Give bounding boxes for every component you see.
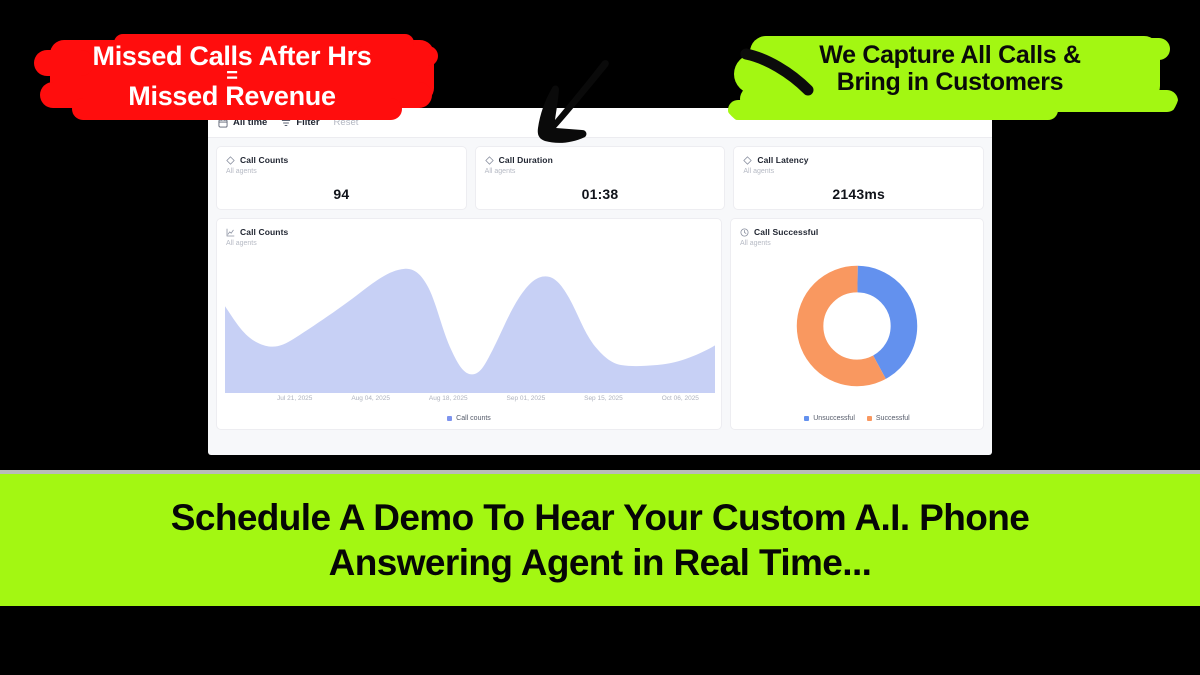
green-banner-line1: We Capture All Calls & <box>720 42 1180 69</box>
kpi-subtitle: All agents <box>743 168 974 175</box>
chart-title: Call Successful <box>754 227 818 237</box>
chart-header: Call Counts <box>226 227 712 237</box>
area-chart-card[interactable]: Call Counts All agents Jul 21, 2025 Aug … <box>216 218 722 430</box>
chart-title: Call Counts <box>240 227 288 237</box>
legend-swatch <box>867 416 872 421</box>
green-banner-line2: Bring in Customers <box>720 69 1180 96</box>
kpi-card-call-latency[interactable]: Call Latency All agents 2143ms <box>733 146 984 210</box>
donut-chart-legend: Unsuccessful Successful <box>731 415 983 422</box>
bottom-cta-banner: Schedule A Demo To Hear Your Custom A.I.… <box>0 474 1200 606</box>
arrow-down-left-icon <box>512 58 617 148</box>
kpi-card-call-duration[interactable]: Call Duration All agents 01:38 <box>475 146 726 210</box>
x-tick: Oct 06, 2025 <box>662 395 699 402</box>
area-chart-plot <box>225 253 715 393</box>
kpi-header: Call Latency <box>743 155 974 165</box>
chart-subtitle: All agents <box>740 240 974 247</box>
kpi-title: Call Latency <box>757 155 808 165</box>
clock-icon <box>740 228 749 237</box>
line-chart-icon <box>226 228 235 237</box>
kpi-subtitle: All agents <box>226 168 457 175</box>
kpi-subtitle: All agents <box>485 168 716 175</box>
x-tick: Aug 04, 2025 <box>351 395 390 402</box>
legend-item-call-counts[interactable]: Call counts <box>447 415 491 422</box>
chart-subtitle: All agents <box>226 240 712 247</box>
green-banner-text: We Capture All Calls & Bring in Customer… <box>720 28 1180 96</box>
kpi-title: Call Counts <box>240 155 288 165</box>
kpi-header: Call Duration <box>485 155 716 165</box>
legend-swatch <box>447 416 452 421</box>
kpi-value: 94 <box>226 186 457 202</box>
diamond-icon <box>485 156 494 165</box>
kpi-value: 01:38 <box>485 186 716 202</box>
slide-canvas: All time Filter Reset <box>0 0 1200 675</box>
area-chart-legend: Call counts <box>217 415 721 422</box>
area-series-call-counts <box>225 269 715 393</box>
x-tick: Aug 18, 2025 <box>429 395 468 402</box>
donut-chart-svg <box>795 264 919 388</box>
bottom-banner-line1: Schedule A Demo To Hear Your Custom A.I.… <box>40 495 1160 540</box>
kpi-card-call-counts[interactable]: Call Counts All agents 94 <box>216 146 467 210</box>
kpi-row: Call Counts All agents 94 Call Duration … <box>208 138 992 214</box>
legend-item-unsuccessful[interactable]: Unsuccessful <box>804 415 855 422</box>
x-tick: Sep 15, 2025 <box>584 395 623 402</box>
kpi-value: 2143ms <box>743 186 974 202</box>
legend-label: Call counts <box>456 415 491 422</box>
legend-label: Unsuccessful <box>813 415 855 422</box>
bottom-banner-text: Schedule A Demo To Hear Your Custom A.I.… <box>40 495 1160 585</box>
red-banner-text: Missed Calls After Hrs = Missed Revenue <box>22 30 442 111</box>
red-banner-line3: Missed Revenue <box>22 82 442 111</box>
kpi-title: Call Duration <box>499 155 553 165</box>
area-chart-svg <box>225 253 715 393</box>
diamond-icon <box>226 156 235 165</box>
donut-chart-card[interactable]: Call Successful All agents Unsuccessful <box>730 218 984 430</box>
x-tick: Sep 01, 2025 <box>507 395 546 402</box>
area-chart-x-axis: Jul 21, 2025 Aug 04, 2025 Aug 18, 2025 S… <box>225 395 717 402</box>
bottom-banner-line2: Answering Agent in Real Time... <box>40 540 1160 585</box>
donut-chart-plot <box>731 251 983 401</box>
legend-swatch <box>804 416 809 421</box>
charts-row: Call Counts All agents Jul 21, 2025 Aug … <box>208 214 992 438</box>
legend-item-successful[interactable]: Successful <box>867 415 910 422</box>
dashboard-screenshot: All time Filter Reset <box>208 108 992 455</box>
diamond-icon <box>743 156 752 165</box>
chart-header: Call Successful <box>740 227 974 237</box>
legend-label: Successful <box>876 415 910 422</box>
top-left-highlight-banner: Missed Calls After Hrs = Missed Revenue <box>22 30 442 130</box>
x-tick: Jul 21, 2025 <box>277 395 312 402</box>
top-right-highlight-banner: We Capture All Calls & Bring in Customer… <box>720 28 1180 128</box>
kpi-header: Call Counts <box>226 155 457 165</box>
